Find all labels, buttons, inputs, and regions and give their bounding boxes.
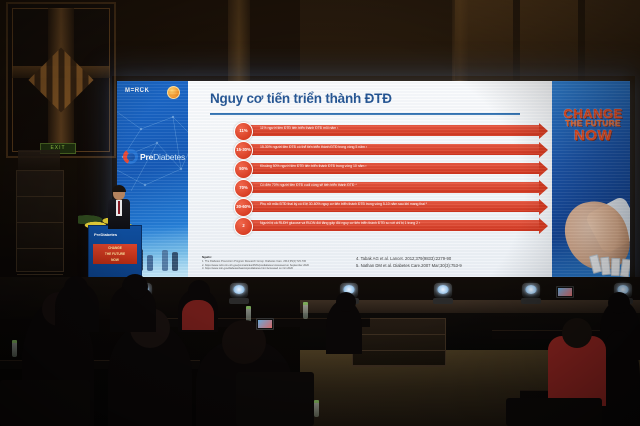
logo-pre: Pre (140, 152, 153, 162)
light-base (433, 298, 453, 304)
risk-percent-badge: 11% (234, 122, 253, 141)
risk-row-text: Khoảng 50% người tiền ĐTĐ tiến triển thà… (260, 164, 525, 168)
water-bottle (303, 302, 308, 319)
risk-row-text: 15-30% người tiền ĐTĐ có thể tiến triển … (260, 145, 525, 149)
light-lens (233, 285, 245, 294)
risk-percent-badge: 2 (234, 217, 253, 236)
podium-logo: PreDiabetes (94, 232, 117, 237)
risk-arrow-row: 30-60%Phụ nữ mắc ĐTĐ thai kỳ có tỉ lệ 30… (234, 198, 539, 215)
risk-arrow-row: 50%Khoảng 50% người tiền ĐTĐ tiến triển … (234, 160, 539, 177)
risk-percent-badge: 50% (234, 160, 253, 179)
slide-main-area: Nguy cơ tiến triển thành ĐTĐ 11%11% ngườ… (188, 81, 552, 277)
presenter-hair (112, 185, 126, 192)
audience-head (608, 292, 630, 314)
audience-head (188, 280, 210, 302)
risk-row-text: Người bị cả RLĐH glucose và RLDN đói tăn… (260, 221, 525, 225)
person-silhouette (147, 255, 153, 271)
prediabetes-mark-icon (123, 149, 138, 164)
chair (506, 398, 602, 426)
person-silhouette (162, 250, 168, 271)
risk-arrow-row: 11%11% người tiền ĐTĐ tiến triển thành Đ… (234, 122, 539, 139)
speaker-cell (17, 171, 63, 197)
water-bottle (12, 340, 17, 357)
speaker-cell (17, 223, 63, 249)
reference-item: 5. Nathan DM et al. Diabetes Care.2007 M… (356, 263, 536, 269)
domino-piece (600, 257, 611, 276)
references-right-list: 4. Tabak AG et al. Lancet. 2012;379(9833… (356, 256, 536, 269)
logo-diabetes: Diabetes (153, 152, 185, 162)
decorative-wood-door (6, 2, 116, 158)
smartphone-recording[interactable] (556, 286, 574, 298)
title-underline (210, 113, 520, 115)
references-heading: Nguồn: (202, 255, 212, 259)
step (353, 335, 445, 351)
prediabetes-wordmark: PreDiabetes (140, 152, 185, 162)
audience-head (122, 274, 148, 300)
phone-screen (558, 288, 572, 296)
step (353, 351, 445, 367)
audience-head (562, 318, 592, 348)
reference-item: 3. https://www.cdc.gov/diabetes/basics/p… (202, 267, 377, 271)
light-head (434, 283, 452, 298)
person-silhouette (172, 252, 178, 271)
presenter (108, 186, 130, 228)
prediabetes-logo: PreDiabetes (123, 149, 185, 164)
references-left: Nguồn: 1. The Diabetes Prevention Progra… (202, 255, 377, 271)
line-array-speaker-top (18, 150, 60, 172)
wall-panel-c (585, 0, 640, 80)
stage-light (432, 283, 454, 307)
light-lens (437, 285, 449, 294)
chair (236, 372, 314, 426)
slide-title: Nguy cơ tiến triển thành ĐTĐ (210, 91, 392, 106)
domino-piece (611, 258, 621, 276)
presenter-tie (118, 201, 120, 214)
chair (0, 380, 90, 426)
wall-panel-b (520, 0, 578, 80)
slogan-line-3: NOW (557, 128, 629, 143)
light-base (229, 298, 249, 304)
wall-panel-a (455, 0, 513, 80)
risk-percent-badge: 15-30% (234, 141, 253, 160)
risk-arrow-list: 11%11% người tiền ĐTĐ tiến triển thành Đ… (234, 122, 539, 236)
light-head (230, 283, 248, 298)
water-bottle (314, 400, 319, 417)
risk-arrow-row: 15-30%15-30% người tiền ĐTĐ có thể tiến … (234, 141, 539, 158)
event-seal-icon (167, 86, 180, 99)
domino-piece (620, 258, 630, 277)
risk-row-text: 11% người tiền ĐTĐ tiến triển thành ĐTĐ … (260, 126, 525, 130)
references-left-list: 1. The Diabetes Prevention Program Resea… (202, 260, 377, 271)
risk-row-text: Phụ nữ mắc ĐTĐ thai kỳ có tỉ lệ 30-60% n… (260, 202, 525, 206)
audience-head (64, 276, 88, 300)
slogan-line-1: CHANGE (557, 107, 629, 120)
line-array-speaker (16, 170, 64, 272)
audience-member-red (182, 300, 214, 330)
speaker-cell (17, 197, 63, 223)
speaker-cell (17, 249, 63, 275)
risk-row-text: Có đến 70% người tiền ĐTĐ cuối cùng sẽ t… (260, 183, 525, 187)
audience-head (336, 292, 356, 312)
conference-photo: EXIT M=RCK (0, 0, 640, 426)
merck-logo: M=RCK (125, 88, 150, 95)
risk-percent-badge: 70% (234, 179, 253, 198)
podium-banner: CHANGE THE FUTURE NOW (93, 244, 137, 264)
phone-screen (258, 320, 272, 328)
light-lens (525, 285, 537, 294)
stage-light (520, 283, 542, 307)
light-base (521, 298, 541, 304)
podium-banner-line-3: NOW (93, 256, 137, 262)
projection-screen: M=RCK PreDiabetes Nguy cơ tiến triển thà… (117, 81, 630, 277)
risk-arrow-row: 70%Có đến 70% người tiền ĐTĐ cuối cùng s… (234, 179, 539, 196)
light-head (522, 283, 540, 298)
smartphone-recording[interactable] (256, 318, 274, 330)
risk-arrow-row: 2Người bị cả RLĐH glucose và RLDN đói tă… (234, 217, 539, 234)
campaign-slogan: CHANGE THE FUTURE NOW (557, 107, 629, 144)
slide-right-panel: CHANGE THE FUTURE NOW (552, 81, 630, 277)
risk-percent-badge: 30-60% (234, 198, 253, 217)
stage-light (228, 283, 250, 307)
